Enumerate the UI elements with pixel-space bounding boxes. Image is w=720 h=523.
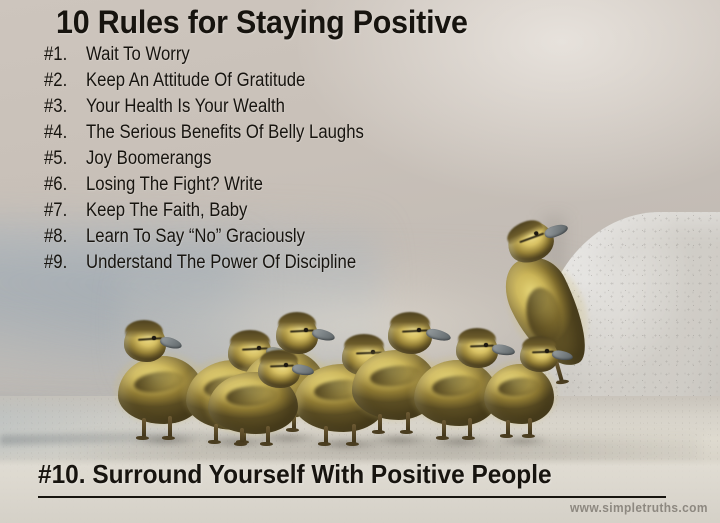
rule-item: #3.Your Health Is Your Wealth	[44, 96, 402, 122]
duckling-foot	[500, 434, 513, 438]
duckling-foot	[436, 436, 449, 440]
rule-number: #7.	[44, 200, 81, 222]
duckling-7	[480, 338, 576, 446]
rule-item: #6.Losing The Fight? Write	[44, 174, 402, 200]
rule-text: Learn To Say “No” Graciously	[86, 226, 305, 248]
rule-number: #9.	[44, 252, 81, 274]
duckling-head-cap	[278, 312, 316, 330]
rule-number: #1.	[44, 44, 81, 66]
duckling-foot	[162, 436, 175, 440]
duckling-bill	[543, 222, 569, 240]
rule-item: #4.The Serious Benefits Of Belly Laughs	[44, 122, 402, 148]
rule-number: #6.	[44, 174, 81, 196]
rule-text: Losing The Fight? Write	[86, 174, 263, 196]
rule-text: Keep An Attitude Of Gratitude	[86, 70, 305, 92]
rules-list: #1.Wait To Worry#2.Keep An Attitude Of G…	[44, 44, 402, 278]
rule-number: #5.	[44, 148, 81, 170]
page-title: 10 Rules for Staying Positive	[56, 4, 468, 41]
rule-item: #8.Learn To Say “No” Graciously	[44, 226, 402, 252]
footer-rule-ten: #10. Surround Yourself With Positive Peo…	[38, 459, 552, 490]
duckling-foot	[372, 430, 385, 434]
rule-text: Your Health Is Your Wealth	[86, 96, 285, 118]
duckling-eye	[304, 328, 308, 332]
duckling-head-cap	[390, 312, 430, 330]
duckling-eye	[545, 349, 549, 353]
rule-text: Keep The Faith, Baby	[86, 200, 247, 222]
duckling-eye	[284, 363, 288, 367]
rule-number: #4.	[44, 122, 81, 144]
rule-item: #9.Understand The Power Of Discipline	[44, 252, 402, 278]
duckling-foot	[234, 442, 247, 446]
rule-number: #3.	[44, 96, 81, 118]
rule-text: Joy Boomerangs	[86, 148, 211, 170]
rule-text: Wait To Worry	[86, 44, 190, 66]
duckling-head-cap	[522, 336, 556, 352]
rule-text: Understand The Power Of Discipline	[86, 252, 356, 274]
rule-item: #2.Keep An Attitude Of Gratitude	[44, 70, 402, 96]
duckling-leg	[142, 418, 146, 438]
duckling-8	[206, 352, 314, 448]
poster: 10 Rules for Staying Positive #1.Wait To…	[0, 0, 720, 523]
rule-item: #5.Joy Boomerangs	[44, 148, 402, 174]
rule-item: #7.Keep The Faith, Baby	[44, 200, 402, 226]
duckling-eye	[152, 336, 156, 340]
duckling-leg	[168, 416, 172, 438]
rule-text: The Serious Benefits Of Belly Laughs	[86, 122, 364, 144]
duckling-foot	[522, 434, 535, 438]
duckling-foot	[462, 436, 475, 440]
duckling-leg	[468, 418, 472, 438]
footer-underline	[38, 496, 666, 498]
duckling-head-cap	[260, 350, 298, 366]
duckling-foot	[318, 442, 331, 446]
rule-number: #2.	[44, 70, 81, 92]
rule-number: #8.	[44, 226, 81, 248]
rule-item: #1.Wait To Worry	[44, 44, 402, 70]
duckling-head-cap	[125, 320, 163, 338]
duckling-foot	[260, 442, 273, 446]
watermark-url: www.simpletruths.com	[570, 500, 708, 515]
duckling-foot	[136, 436, 149, 440]
